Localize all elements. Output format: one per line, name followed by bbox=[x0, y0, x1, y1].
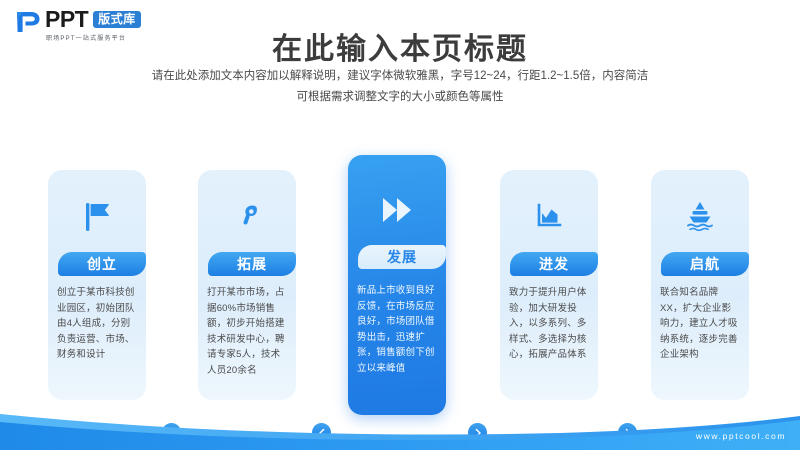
card-setsail[interactable]: 启航 联合知名品牌XX，扩大企业影响力，建立人才吸纳系统，逐步完善企业架构 bbox=[651, 170, 749, 400]
bar-chart-icon bbox=[500, 188, 598, 246]
card-badge: 启航 bbox=[661, 252, 749, 276]
card-advance[interactable]: 进发 致力于提升用户体验，加大研发投入，以多系列、多样式、多选择为核心，拓展产品… bbox=[500, 170, 598, 400]
card-badge: 拓展 bbox=[208, 252, 296, 276]
card-body-text: 打开某市市场，占据60%市场销售额，初步开始搭建技术研发中心，聘请专家5人，技术… bbox=[207, 285, 287, 378]
timeline-cards: 创立 创立于某市科技创业园区，初始团队由4人组成，分别负责运营、市场、财务和设计… bbox=[0, 155, 800, 415]
card-develop[interactable]: 发展 新品上市收到良好反馈，在市场反应良好，市场团队借势出击，迅速扩张，销售额创… bbox=[348, 155, 446, 415]
card-badge: 创立 bbox=[58, 252, 146, 276]
card-body-text: 联合知名品牌XX，扩大企业影响力，建立人才吸纳系统，逐步完善企业架构 bbox=[660, 285, 740, 363]
card-expand[interactable]: 拓展 打开某市市场，占据60%市场销售额，初步开始搭建技术研发中心，聘请专家5人… bbox=[198, 170, 296, 400]
card-badge: 进发 bbox=[510, 252, 598, 276]
page-subtitle: 请在此处添加文本内容加以解释说明，建议字体微软雅黑，字号12~24，行距1.2~… bbox=[0, 66, 800, 108]
flag-icon bbox=[48, 188, 146, 246]
page-title: 在此输入本页标题 bbox=[0, 24, 800, 68]
page-subtitle-line-2: 可根据需求调整文字的大小或颜色等属性 bbox=[0, 87, 800, 108]
card-badge: 发展 bbox=[358, 245, 446, 269]
megaphone-icon bbox=[198, 188, 296, 246]
page-subtitle-line-1: 请在此处添加文本内容加以解释说明，建议字体微软雅黑，字号12~24，行距1.2~… bbox=[0, 66, 800, 87]
card-body-text: 致力于提升用户体验，加大研发投入，以多系列、多样式、多选择为核心，拓展产品体系 bbox=[509, 285, 589, 363]
footer-wave-decoration: www.pptcool.com bbox=[0, 400, 800, 450]
footer-url: www.pptcool.com bbox=[696, 431, 786, 441]
card-body-text: 新品上市收到良好反馈，在市场反应良好，市场团队借势出击，迅速扩张，销售额创下创立… bbox=[357, 283, 437, 376]
fast-forward-icon bbox=[348, 181, 446, 239]
ship-icon bbox=[651, 188, 749, 246]
card-body-text: 创立于某市科技创业园区，初始团队由4人组成，分别负责运营、市场、财务和设计 bbox=[57, 285, 137, 363]
card-create[interactable]: 创立 创立于某市科技创业园区，初始团队由4人组成，分别负责运营、市场、财务和设计 bbox=[48, 170, 146, 400]
slide-canvas: PPT 版式库 职场PPT一站式服务平台 在此输入本页标题 请在此处添加文本内容… bbox=[0, 0, 800, 450]
